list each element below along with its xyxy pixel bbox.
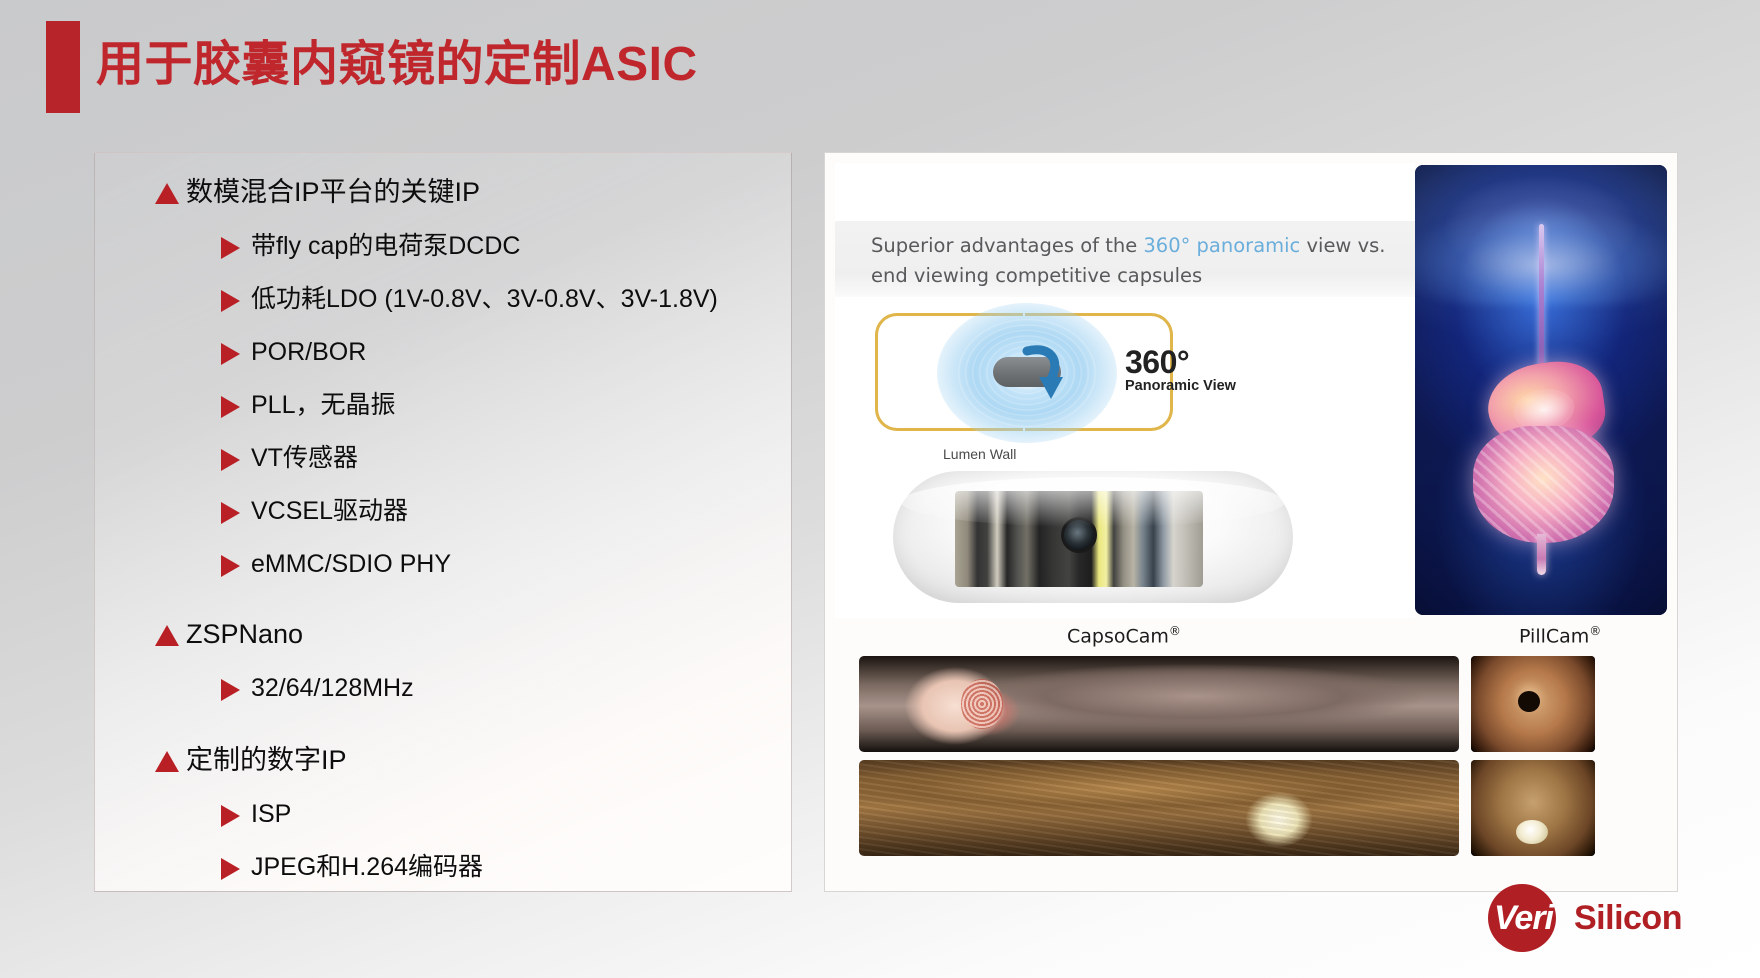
bullet-label: 低功耗LDO (1V-0.8V、3V-0.8V、3V-1.8V): [251, 279, 718, 319]
registered-mark-icon: ®: [1589, 624, 1601, 638]
triangle-right-icon: [221, 290, 240, 312]
triangle-right-icon: [221, 396, 240, 418]
headline-text: Superior advantages of the 360° panorami…: [871, 231, 1391, 291]
triangle-right-icon: [221, 555, 240, 577]
degrees-label: 360°: [1125, 347, 1236, 377]
image-captions: CapsoCam® PillCam®: [835, 618, 1669, 656]
page-title: 用于胶囊内窥镜的定制ASIC: [96, 26, 698, 104]
list-item: JPEG和H.264编码器: [221, 847, 777, 898]
verisilicon-logo: Veri Silicon: [1488, 880, 1716, 956]
bullet-label: eMMC/SDIO PHY: [251, 544, 451, 584]
list-item: POR/BOR: [221, 332, 777, 383]
list-item: VCSEL驱动器: [221, 491, 777, 542]
triangle-up-icon: [155, 751, 179, 772]
view-label: Panoramic View: [1125, 377, 1236, 395]
triangle-up-icon: [155, 183, 179, 204]
esophagus: [1539, 224, 1544, 386]
illustration-panel: Superior advantages of the 360° panorami…: [824, 152, 1678, 892]
list-item: eMMC/SDIO PHY: [221, 544, 777, 595]
triangle-up-icon: [155, 625, 179, 646]
bullet-label: 定制的数字IP: [186, 739, 347, 781]
bullet-group-heading: 定制的数字IP: [155, 739, 777, 792]
bullet-label: 数模混合IP平台的关键IP: [186, 171, 480, 213]
pillcam-image-1: [1471, 656, 1595, 752]
headline-highlight: 360° panoramic: [1143, 234, 1300, 257]
headline-part1: Superior advantages of the: [871, 234, 1143, 257]
capsule-lens-icon: [1061, 517, 1097, 553]
features-panel: 数模混合IP平台的关键IP 带fly cap的电荷泵DCDC 低功耗LDO (1…: [94, 152, 792, 892]
bullet-label: JPEG和H.264编码器: [251, 847, 483, 887]
caption-capsocam: CapsoCam®: [1067, 624, 1181, 647]
capsocam-panoramic-image-1: [859, 656, 1459, 752]
triangle-right-icon: [221, 449, 240, 471]
intestines: [1473, 426, 1614, 543]
caption-pillcam: PillCam®: [1519, 624, 1601, 647]
spacer: [109, 597, 777, 613]
triangle-right-icon: [221, 679, 240, 701]
caption-capsocam-text: CapsoCam: [1067, 625, 1169, 647]
list-item: 带fly cap的电荷泵DCDC: [221, 226, 777, 277]
rotation-arrow-icon: [1021, 343, 1065, 401]
spacer: [109, 721, 777, 739]
bullet-label: VCSEL驱动器: [251, 491, 408, 531]
endoscopy-photo: [1471, 656, 1595, 752]
list-item: PLL，无晶振: [221, 385, 777, 436]
panoramic-view-graphic: 360° Panoramic View: [875, 313, 1205, 433]
bullet-label: ISP: [251, 794, 291, 834]
slide-header: 用于胶囊内窥镜的定制ASIC: [0, 0, 1760, 132]
capsocam-panoramic-image-2: [859, 760, 1459, 856]
lumen-wall-label: Lumen Wall: [943, 446, 1016, 462]
pillcam-image-2: [1471, 760, 1595, 856]
endoscopy-photo: [859, 760, 1459, 856]
bullet-label: POR/BOR: [251, 332, 366, 372]
panoramic-label: 360° Panoramic View: [1125, 347, 1236, 395]
triangle-right-icon: [221, 237, 240, 259]
triangle-right-icon: [221, 805, 240, 827]
logo-veri-text: Veri: [1494, 899, 1553, 937]
capsule-device-photo: [893, 463, 1293, 611]
rectum: [1537, 534, 1546, 575]
triangle-right-icon: [221, 502, 240, 524]
bullet-label: VT传感器: [251, 438, 358, 478]
triangle-right-icon: [221, 343, 240, 365]
list-item: ISP: [221, 794, 777, 845]
title-accent-bar: [46, 21, 80, 113]
endoscopy-image-grid: [835, 656, 1669, 868]
bullet-group-heading: ZSPNano: [155, 613, 777, 666]
triangle-right-icon: [221, 858, 240, 880]
list-item: 低功耗LDO (1V-0.8V、3V-0.8V、3V-1.8V): [221, 279, 777, 330]
list-item: VT传感器: [221, 438, 777, 489]
list-item: 32/64/128MHz: [221, 668, 777, 719]
logo-silicon-text: Silicon: [1574, 899, 1682, 937]
capsule-overview-row: Superior advantages of the 360° panorami…: [835, 163, 1669, 618]
bullet-label: 带fly cap的电荷泵DCDC: [251, 226, 520, 266]
human-digestive-tract-image: [1415, 165, 1667, 615]
endoscopy-photo: [1471, 760, 1595, 856]
endoscopy-photo: [859, 656, 1459, 752]
bullet-label: 32/64/128MHz: [251, 668, 414, 708]
bullet-group-heading: 数模混合IP平台的关键IP: [155, 171, 777, 224]
bullet-label: PLL，无晶振: [251, 385, 395, 425]
caption-pillcam-text: PillCam: [1519, 625, 1589, 647]
bullet-label: ZSPNano: [186, 613, 303, 655]
feature-bullet-list: 数模混合IP平台的关键IP 带fly cap的电荷泵DCDC 低功耗LDO (1…: [109, 171, 777, 898]
capsule-diagram-card: Superior advantages of the 360° panorami…: [835, 163, 1415, 618]
registered-mark-icon: ®: [1169, 624, 1181, 638]
